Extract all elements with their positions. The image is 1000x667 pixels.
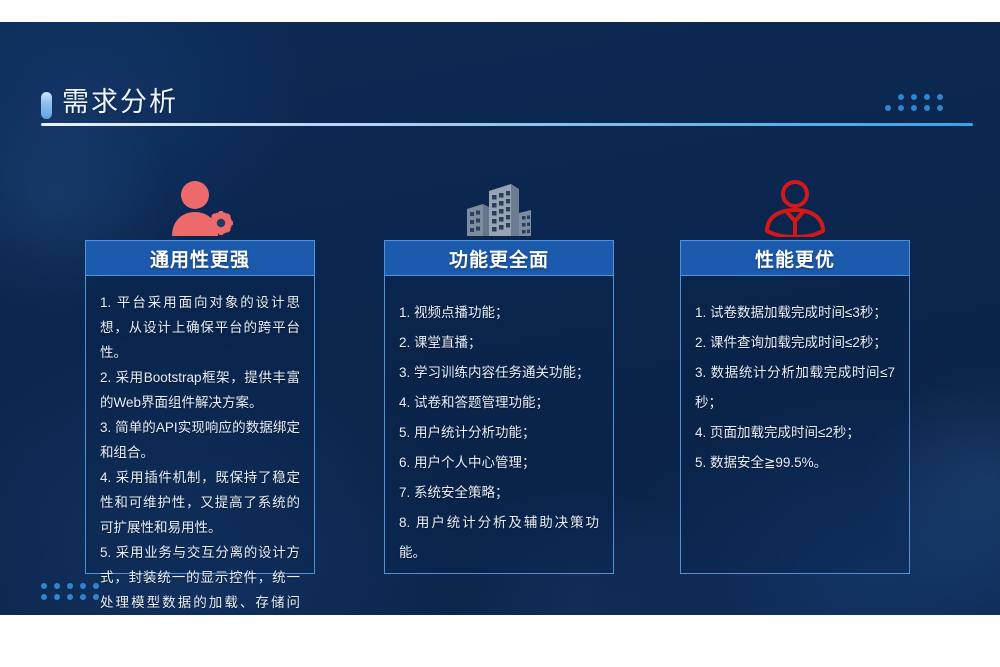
list-item: 6. 用户个人中心管理； bbox=[399, 448, 599, 478]
list-item: 4. 试卷和答题管理功能； bbox=[399, 388, 599, 418]
list-item: 5. 用户统计分析功能； bbox=[399, 418, 599, 448]
list-item: 3. 学习训练内容任务通关功能； bbox=[399, 358, 599, 388]
card-title: 性能更优 bbox=[755, 245, 835, 272]
list-item: 2. 采用Bootstrap框架，提供丰富的Web界面组件解决方案。 bbox=[100, 365, 300, 415]
list-item: 2. 课堂直播； bbox=[399, 328, 599, 358]
list-item: 2. 课件查询加载完成时间≤2秒； bbox=[695, 328, 895, 358]
list-item: 5. 数据安全≧99.5%。 bbox=[695, 448, 895, 478]
card-title: 通用性更强 bbox=[150, 245, 250, 272]
list-item: 3. 数据统计分析加载完成时间≤7秒； bbox=[695, 358, 895, 418]
list-item: 5. 采用业务与交互分离的设计方式，封装统一的显示控件，统一处理模型数据的加载、… bbox=[100, 540, 300, 615]
card-title: 功能更全面 bbox=[449, 245, 549, 272]
card-performance: 性能更优 1. 试卷数据加载完成时间≤3秒； 2. 课件查询加载完成时间≤2秒；… bbox=[680, 240, 910, 574]
list-item: 7. 系统安全策略； bbox=[399, 478, 599, 508]
list-item: 8. 用户统计分析及辅助决策功能。 bbox=[399, 508, 599, 568]
list-item: 1. 试卷数据加载完成时间≤3秒； bbox=[695, 298, 895, 328]
card-item-list: 1. 试卷数据加载完成时间≤3秒； 2. 课件查询加载完成时间≤2秒； 3. 数… bbox=[695, 298, 895, 478]
card-item-list: 1. 视频点播功能； 2. 课堂直播； 3. 学习训练内容任务通关功能； 4. … bbox=[399, 298, 599, 568]
card-header: 通用性更强 bbox=[85, 240, 315, 276]
card-header: 性能更优 bbox=[680, 240, 910, 276]
card-header: 功能更全面 bbox=[384, 240, 614, 276]
page-title: 需求分析 bbox=[62, 84, 178, 120]
dot-grid-bottom-left bbox=[41, 583, 106, 605]
card-generality: 通用性更强 1. 平台采用面向对象的设计思想，从设计上确保平台的跨平台性。 2.… bbox=[85, 240, 315, 574]
list-item: 4. 采用插件机制，既保持了稳定性和可维护性，又提高了系统的可扩展性和易用性。 bbox=[100, 465, 300, 540]
pill-bullet-icon bbox=[41, 92, 52, 119]
card-body: 1. 视频点播功能； 2. 课堂直播； 3. 学习训练内容任务通关功能； 4. … bbox=[384, 276, 614, 574]
list-item: 1. 视频点播功能； bbox=[399, 298, 599, 328]
card-features: 功能更全面 1. 视频点播功能； 2. 课堂直播； 3. 学习训练内容任务通关功… bbox=[384, 240, 614, 574]
list-item: 1. 平台采用面向对象的设计思想，从设计上确保平台的跨平台性。 bbox=[100, 290, 300, 365]
buildings-icon bbox=[459, 177, 539, 237]
title-divider bbox=[41, 123, 973, 126]
slide-header: 需求分析 bbox=[0, 22, 1000, 122]
user-settings-icon bbox=[160, 177, 240, 237]
businessman-outline-icon bbox=[755, 177, 835, 237]
card-body: 1. 试卷数据加载完成时间≤3秒； 2. 课件查询加载完成时间≤2秒； 3. 数… bbox=[680, 276, 910, 574]
card-body: 1. 平台采用面向对象的设计思想，从设计上确保平台的跨平台性。 2. 采用Boo… bbox=[85, 276, 315, 574]
list-item: 3. 简单的API实现响应的数据绑定和组合。 bbox=[100, 415, 300, 465]
slide-canvas: 需求分析 bbox=[0, 22, 1000, 615]
card-item-list: 1. 平台采用面向对象的设计思想，从设计上确保平台的跨平台性。 2. 采用Boo… bbox=[100, 290, 300, 615]
dot-grid-top-right bbox=[885, 94, 950, 116]
list-item: 4. 页面加载完成时间≤2秒； bbox=[695, 418, 895, 448]
